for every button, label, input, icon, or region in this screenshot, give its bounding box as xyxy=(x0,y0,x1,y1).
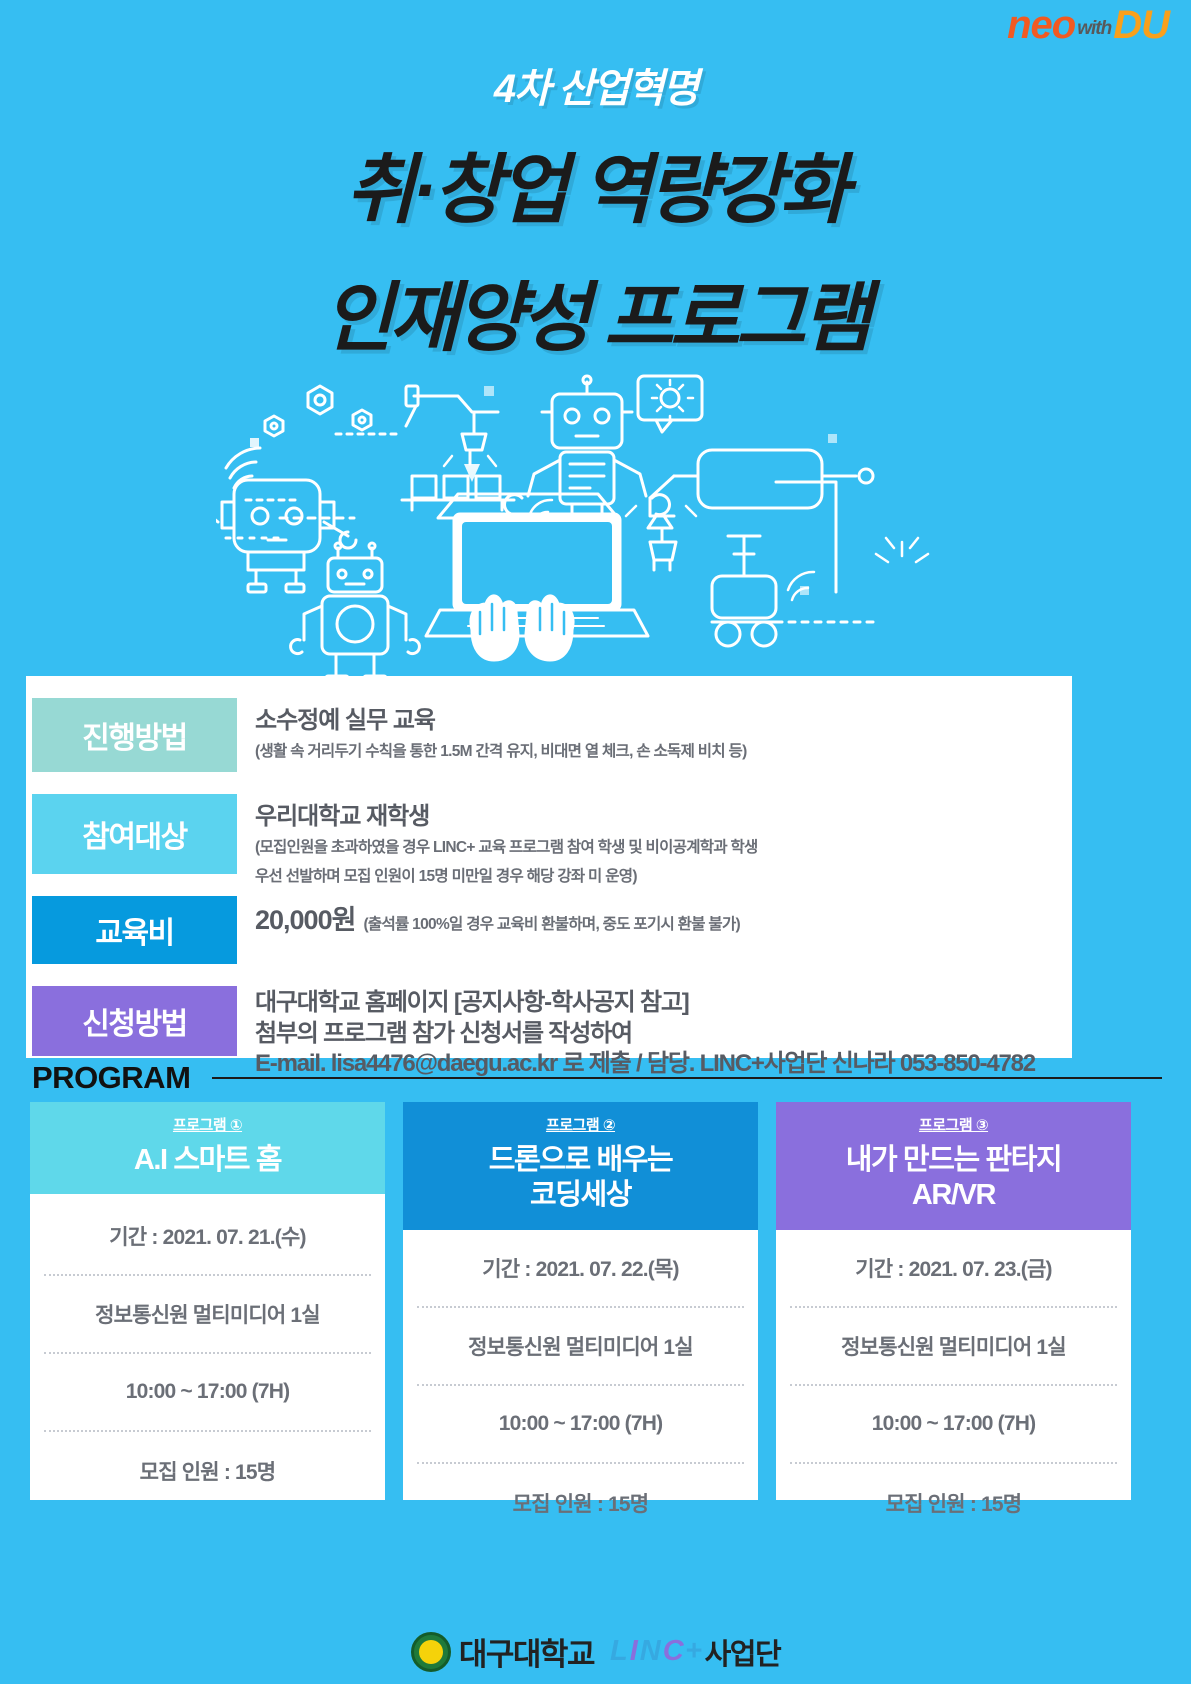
program-card-header: 프로그램 ① A.I 스마트 홈 xyxy=(30,1102,385,1194)
info-row-target: 참여대상 우리대학교 재학생 (모집인원을 초과하였을 경우 LINC+ 교육 … xyxy=(26,794,1072,874)
program-card-title: 내가 만드는 판타지 AR/VR xyxy=(782,1143,1125,1214)
program-card-period: 기간 : 2021. 07. 21.(수) xyxy=(44,1198,371,1276)
program-card-title-line-2: AR/VR xyxy=(782,1178,1125,1213)
program-card-kicker: 프로그램 ③ xyxy=(782,1114,1125,1135)
linc-plus-logo: L I N C + 사업단 xyxy=(610,1631,780,1673)
linc-letter-i: I xyxy=(630,1635,638,1668)
linc-plus-symbol: + xyxy=(686,1635,703,1668)
linc-tail-label: 사업단 xyxy=(705,1631,781,1673)
title-subtitle: 4차 산업혁명 xyxy=(0,56,1191,114)
program-heading-label: PROGRAM xyxy=(32,1060,190,1096)
program-card-title: 드론으로 배우는 코딩세상 xyxy=(409,1143,752,1214)
target-note-2: 우선 선발하며 모집 인원이 15명 미만일 경우 해당 강좌 미 운영) xyxy=(255,864,758,886)
program-card[interactable]: 프로그램 ③ 내가 만드는 판타지 AR/VR 기간 : 2021. 07. 2… xyxy=(776,1102,1131,1500)
title-main-line-2: 인재양성 프로그램 xyxy=(0,256,1191,366)
program-card-kicker: 프로그램 ① xyxy=(36,1114,379,1135)
illustration-svg xyxy=(216,372,976,682)
program-card-body: 기간 : 2021. 07. 22.(목) 정보통신원 멀티미디어 1실 10:… xyxy=(403,1230,758,1550)
info-label-fee: 교육비 xyxy=(32,896,237,964)
program-card[interactable]: 프로그램 ② 드론으로 배우는 코딩세상 기간 : 2021. 07. 22.(… xyxy=(403,1102,758,1500)
linc-letter-n: N xyxy=(640,1635,661,1668)
university-seal-inner-icon xyxy=(419,1640,443,1664)
fee-note: (출석률 100%일 경우 교육비 환불하며, 중도 포기시 환불 불가) xyxy=(363,912,740,934)
footer-logos: 대구대학교 L I N C + 사업단 xyxy=(0,1629,1191,1674)
program-card-capacity: 모집 인원 : 15명 xyxy=(44,1432,371,1510)
method-note-1: (생활 속 거리두기 수칙을 통한 1.5M 간격 유지, 비대면 열 체크, … xyxy=(255,739,747,761)
logo-du-text: DU xyxy=(1113,6,1169,44)
industry-robot-illustration xyxy=(0,372,1191,682)
info-row-fee: 교육비 20,000원 (출석률 100%일 경우 교육비 환불하며, 중도 포… xyxy=(26,896,1072,964)
program-card-time: 10:00 ~ 17:00 (7H) xyxy=(417,1386,744,1464)
program-card-period: 기간 : 2021. 07. 22.(목) xyxy=(417,1230,744,1308)
program-card-title: A.I 스마트 홈 xyxy=(36,1143,379,1178)
info-body-target: 우리대학교 재학생 (모집인원을 초과하였을 경우 LINC+ 교육 프로그램 … xyxy=(237,794,758,886)
fee-line: 20,000원 (출석률 100%일 경우 교육비 환불하며, 중도 포기시 환… xyxy=(255,898,740,937)
program-card-body: 기간 : 2021. 07. 21.(수) 정보통신원 멀티미디어 1실 10:… xyxy=(30,1194,385,1518)
program-card-list: 프로그램 ① A.I 스마트 홈 기간 : 2021. 07. 21.(수) 정… xyxy=(30,1102,1161,1500)
program-card-kicker: 프로그램 ② xyxy=(409,1114,752,1135)
program-card-time: 10:00 ~ 17:00 (7H) xyxy=(790,1386,1117,1464)
program-card-location: 정보통신원 멀티미디어 1실 xyxy=(417,1308,744,1386)
daegu-university-logo: 대구대학교 xyxy=(411,1629,594,1674)
info-row-apply: 신청방법 대구대학교 홈페이지 [공지사항-학사공지 참고] 첨부의 프로그램 … xyxy=(26,986,1072,1056)
program-card-capacity: 모집 인원 : 15명 xyxy=(417,1464,744,1542)
info-body-method: 소수정예 실무 교육 (생활 속 거리두기 수칙을 통한 1.5M 간격 유지,… xyxy=(237,698,747,761)
program-card[interactable]: 프로그램 ① A.I 스마트 홈 기간 : 2021. 07. 21.(수) 정… xyxy=(30,1102,385,1500)
target-heading: 우리대학교 재학생 xyxy=(255,796,758,831)
program-card-body: 기간 : 2021. 07. 23.(금) 정보통신원 멀티미디어 1실 10:… xyxy=(776,1230,1131,1550)
logo-with-text: with xyxy=(1077,14,1111,44)
neo-with-du-logo: neo with DU xyxy=(1007,6,1169,44)
program-card-title-line-1: 내가 만드는 판타지 xyxy=(782,1143,1125,1178)
linc-letter-c: C xyxy=(663,1635,684,1668)
info-label-target: 참여대상 xyxy=(32,794,237,874)
university-name: 대구대학교 xyxy=(459,1629,594,1674)
program-card-capacity: 모집 인원 : 15명 xyxy=(790,1464,1117,1542)
logo-neo-text: neo xyxy=(1007,6,1075,44)
program-card-header: 프로그램 ③ 내가 만드는 판타지 AR/VR xyxy=(776,1102,1131,1230)
program-card-title-line-1: 드론으로 배우는 xyxy=(409,1143,752,1178)
target-note-1: (모집인원을 초과하였을 경우 LINC+ 교육 프로그램 참여 학생 및 비이… xyxy=(255,835,758,857)
program-card-title-line-2: 코딩세상 xyxy=(409,1178,752,1213)
poster-title-block: 4차 산업혁명 취·창업 역량강화 인재양성 프로그램 xyxy=(0,0,1191,366)
info-row-method: 진행방법 소수정예 실무 교육 (생활 속 거리두기 수칙을 통한 1.5M 간… xyxy=(26,698,1072,772)
linc-letter-l: L xyxy=(610,1635,628,1668)
program-card-header: 프로그램 ② 드론으로 배우는 코딩세상 xyxy=(403,1102,758,1230)
program-heading-rule xyxy=(212,1077,1162,1079)
apply-line-2: 첨부의 프로그램 참가 신청서를 작성하여 xyxy=(255,1019,1035,1050)
info-label-method: 진행방법 xyxy=(32,698,237,772)
title-main-line-1: 취·창업 역량강화 xyxy=(0,128,1191,238)
info-panel: 진행방법 소수정예 실무 교육 (생활 속 거리두기 수칙을 통한 1.5M 간… xyxy=(26,676,1072,1058)
info-body-fee: 20,000원 (출석률 100%일 경우 교육비 환불하며, 중도 포기시 환… xyxy=(237,896,740,937)
info-label-apply: 신청방법 xyxy=(32,986,237,1056)
program-card-period: 기간 : 2021. 07. 23.(금) xyxy=(790,1230,1117,1308)
program-card-time: 10:00 ~ 17:00 (7H) xyxy=(44,1354,371,1432)
program-card-location: 정보통신원 멀티미디어 1실 xyxy=(44,1276,371,1354)
program-section-heading: PROGRAM xyxy=(32,1060,1162,1096)
program-card-location: 정보통신원 멀티미디어 1실 xyxy=(790,1308,1117,1386)
university-seal-icon xyxy=(411,1632,451,1672)
method-heading: 소수정예 실무 교육 xyxy=(255,700,747,735)
fee-amount: 20,000원 xyxy=(255,898,355,937)
apply-line-1: 대구대학교 홈페이지 [공지사항-학사공지 참고] xyxy=(255,988,1035,1019)
